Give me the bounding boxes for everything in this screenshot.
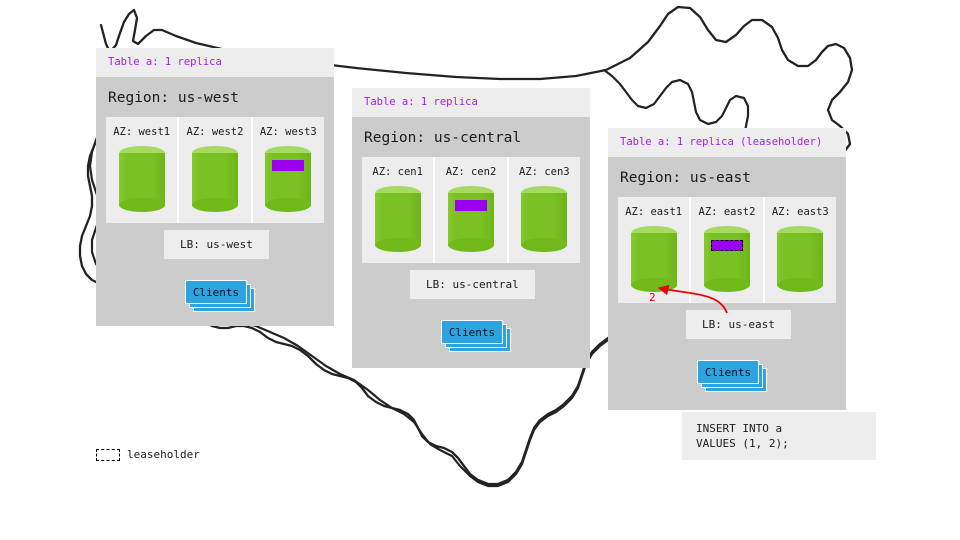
load-balancer-us-east[interactable]: LB: us-east (686, 310, 791, 339)
diagram-stage: Table a: 1 replica Region: us-west AZ: w… (0, 0, 960, 540)
az-cell-cen2[interactable]: AZ: cen2 (435, 157, 508, 263)
az-row-us-west: AZ: west1 AZ: west2 AZ: west3 (106, 117, 324, 223)
az-cell-west1[interactable]: AZ: west1 (106, 117, 179, 223)
database-cylinder-cen1[interactable] (375, 186, 421, 252)
clients-label: Clients (449, 326, 495, 339)
cylinder-body-icon (375, 193, 421, 245)
region-header-us-east: Table a: 1 replica (leaseholder) (608, 128, 846, 157)
cylinder-body-icon (631, 233, 677, 285)
replica-marker-west3 (272, 160, 304, 171)
clients-sheet-front[interactable]: Clients (697, 360, 759, 384)
region-title-us-west: Region: us-west (96, 77, 334, 117)
az-cell-west2[interactable]: AZ: west2 (179, 117, 252, 223)
replica-marker-cen2 (455, 200, 487, 211)
az-label-cen2: AZ: cen2 (446, 166, 497, 178)
cylinder-body-icon (777, 233, 823, 285)
region-panel-us-east: Table a: 1 replica (leaseholder) Region:… (608, 128, 846, 410)
database-cylinder-east1[interactable] (631, 226, 677, 292)
region-title-us-central: Region: us-central (352, 117, 590, 157)
az-label-west1: AZ: west1 (113, 126, 170, 138)
az-cell-cen3[interactable]: AZ: cen3 (509, 157, 580, 263)
cylinder-bottom-icon (265, 198, 311, 212)
database-cylinder-west3[interactable] (265, 146, 311, 212)
leaseholder-dashed-swatch-icon (96, 449, 120, 461)
az-label-east3: AZ: east3 (772, 206, 829, 218)
az-label-west3: AZ: west3 (260, 126, 317, 138)
cylinder-body-icon (119, 153, 165, 205)
cylinder-body-icon (521, 193, 567, 245)
cylinder-bottom-icon (375, 238, 421, 252)
az-cell-east2[interactable]: AZ: east2 (691, 197, 764, 303)
database-cylinder-cen2[interactable] (448, 186, 494, 252)
sql-statement-box: INSERT INTO a VALUES (1, 2); (682, 412, 876, 460)
az-label-east2: AZ: east2 (699, 206, 756, 218)
az-cell-west3[interactable]: AZ: west3 (253, 117, 324, 223)
clients-sheet-front[interactable]: Clients (185, 280, 247, 304)
region-panel-us-west: Table a: 1 replica Region: us-west AZ: w… (96, 48, 334, 326)
legend-label: leaseholder (127, 448, 200, 461)
database-cylinder-west1[interactable] (119, 146, 165, 212)
database-cylinder-west2[interactable] (192, 146, 238, 212)
cylinder-bottom-icon (704, 278, 750, 292)
clients-button-us-west[interactable]: Clients (185, 280, 247, 304)
az-label-west2: AZ: west2 (187, 126, 244, 138)
database-cylinder-cen3[interactable] (521, 186, 567, 252)
load-balancer-us-west[interactable]: LB: us-west (164, 230, 269, 259)
database-cylinder-east2[interactable] (704, 226, 750, 292)
cylinder-bottom-icon (192, 198, 238, 212)
cylinder-bottom-icon (119, 198, 165, 212)
az-row-us-east: AZ: east1 AZ: east2 AZ: east3 (618, 197, 836, 303)
az-row-us-central: AZ: cen1 AZ: cen2 AZ: cen3 (362, 157, 580, 263)
region-header-us-central: Table a: 1 replica (352, 88, 590, 117)
az-cell-east1[interactable]: AZ: east1 (618, 197, 691, 303)
clients-button-us-east[interactable]: Clients (697, 360, 759, 384)
az-label-east1: AZ: east1 (625, 206, 682, 218)
az-label-cen1: AZ: cen1 (372, 166, 423, 178)
az-cell-cen1[interactable]: AZ: cen1 (362, 157, 435, 263)
cylinder-bottom-icon (521, 238, 567, 252)
region-header-us-west: Table a: 1 replica (96, 48, 334, 77)
cylinder-bottom-icon (777, 278, 823, 292)
region-panel-us-central: Table a: 1 replica Region: us-central AZ… (352, 88, 590, 368)
clients-label: Clients (193, 286, 239, 299)
clients-sheet-front[interactable]: Clients (441, 320, 503, 344)
az-label-cen3: AZ: cen3 (519, 166, 570, 178)
database-cylinder-east3[interactable] (777, 226, 823, 292)
cylinder-bottom-icon (631, 278, 677, 292)
clients-label: Clients (705, 366, 751, 379)
region-title-us-east: Region: us-east (608, 157, 846, 197)
cylinder-bottom-icon (448, 238, 494, 252)
load-balancer-us-central[interactable]: LB: us-central (410, 270, 535, 299)
leaseholder-replica-marker-east2 (711, 240, 743, 251)
cylinder-body-icon (192, 153, 238, 205)
clients-button-us-central[interactable]: Clients (441, 320, 503, 344)
az-cell-east3[interactable]: AZ: east3 (765, 197, 836, 303)
annotation-step-2: 2 (649, 291, 656, 304)
legend: leaseholder (96, 448, 200, 461)
